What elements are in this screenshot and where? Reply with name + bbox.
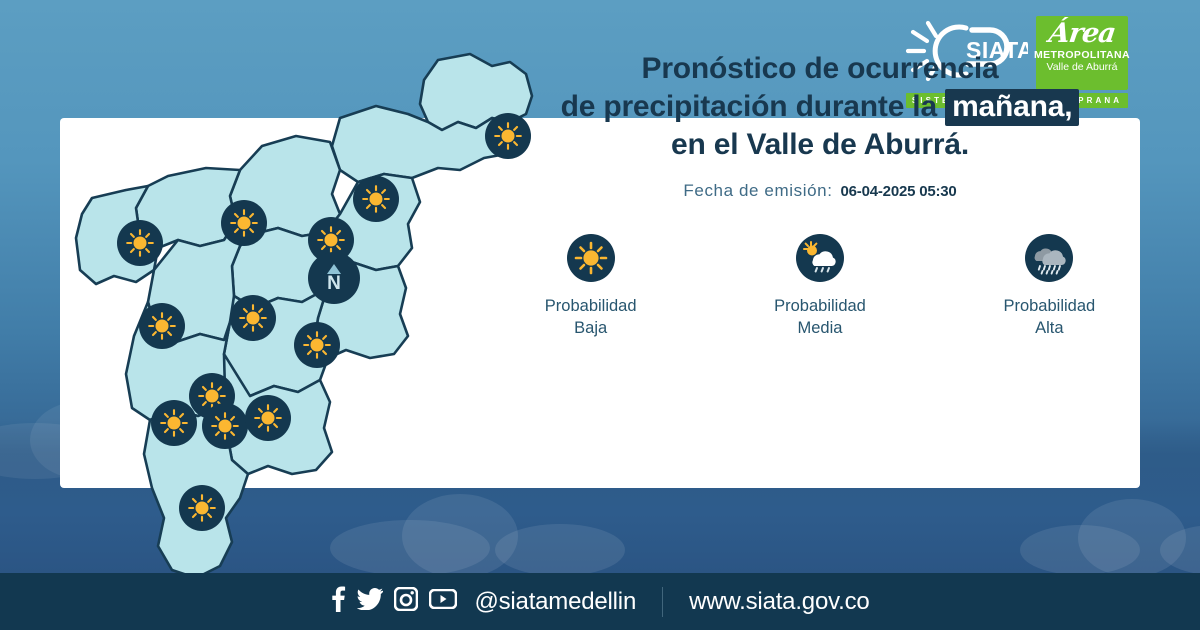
compass-north-badge: N: [308, 252, 360, 304]
emission-date-value: 06-04-2025 05:30: [841, 183, 957, 200]
forecast-panel: Pronóstico de ocurrencia de precipitació…: [520, 50, 1120, 339]
emission-date: Fecha de emisión: 06-04-2025 05:30: [520, 181, 1120, 201]
page-title: Pronóstico de ocurrencia de precipitació…: [520, 50, 1120, 164]
youtube-icon[interactable]: [429, 589, 457, 614]
legend-media-line1: Probabilidad: [774, 295, 866, 317]
legend-alta-line1: Probabilidad: [1003, 295, 1095, 317]
legend-alta-line2: Alta: [1003, 317, 1095, 339]
title-line-2-text: de precipitación durante la: [561, 90, 937, 123]
footer-divider: [662, 587, 663, 617]
legend-item-baja: Probabilidad Baja: [520, 234, 661, 339]
facebook-icon[interactable]: [330, 586, 346, 617]
emission-date-label: Fecha de emisión:: [683, 181, 832, 201]
legend-label-media: Probabilidad Media: [774, 295, 866, 339]
legend-label-baja: Probabilidad Baja: [545, 295, 637, 339]
legend-baja-line1: Probabilidad: [545, 295, 637, 317]
social-handle[interactable]: @siatamedellin: [474, 588, 636, 616]
sun-icon: [567, 234, 615, 282]
infographic-root: SIATA Área METROPOLITANA Valle de Aburrá…: [0, 0, 1200, 630]
website-url[interactable]: www.siata.gov.co: [689, 588, 869, 616]
legend-baja-line2: Baja: [545, 317, 637, 339]
probability-legend: Probabilidad Baja: [520, 234, 1120, 339]
legend-item-alta: Probabilidad Alta: [979, 234, 1120, 339]
footer-bar: @siatamedellin www.siata.gov.co: [0, 573, 1200, 630]
title-line-3: en el Valle de Aburrá.: [520, 126, 1120, 164]
title-line-2: de precipitación durante la mañana,: [520, 88, 1120, 126]
twitter-icon[interactable]: [357, 588, 383, 615]
legend-item-media: Probabilidad Media: [749, 234, 890, 339]
sun-rain-cloud-icon: [796, 234, 844, 282]
compass-label: N: [327, 275, 341, 292]
title-highlight-manana: mañana,: [945, 89, 1079, 126]
heavy-rain-cloud-icon: [1025, 234, 1073, 282]
title-line-1: Pronóstico de ocurrencia: [520, 50, 1120, 88]
amva-script-text: Área: [1047, 19, 1117, 49]
instagram-icon[interactable]: [394, 587, 418, 616]
legend-media-line2: Media: [774, 317, 866, 339]
social-icon-group: [330, 586, 457, 617]
legend-label-alta: Probabilidad Alta: [1003, 295, 1095, 339]
